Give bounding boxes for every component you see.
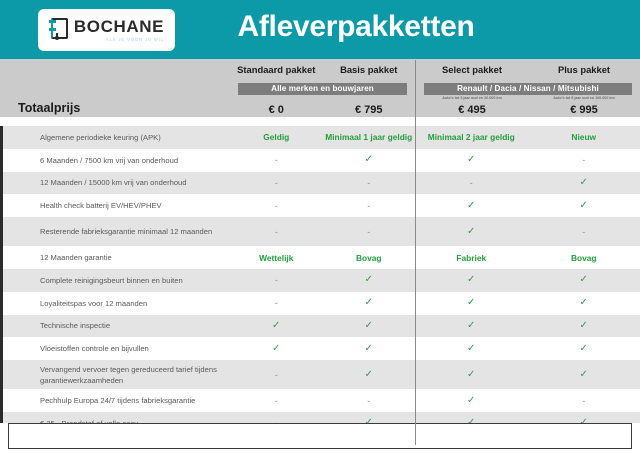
row-label: Technische inspectie <box>0 320 230 331</box>
header-divider <box>0 117 640 126</box>
row-label: Pechhulp Europa 24/7 tijdens fabrieksgar… <box>0 395 230 406</box>
cell-not-included: - <box>230 275 323 285</box>
cell-included-check-icon: ✓ <box>323 298 416 308</box>
cell-included-check-icon: ✓ <box>415 155 528 165</box>
row-accent-bar <box>0 126 3 149</box>
cell-included-check-icon: ✓ <box>415 227 528 237</box>
cell-value: Minimaal 2 jaar geldig <box>415 132 528 142</box>
table-row: 6 Maanden / 7500 km vrij van onderhoud-✓… <box>0 149 640 172</box>
cell-not-included: - <box>230 370 323 380</box>
cell-not-included: - <box>528 227 640 237</box>
column-sub-plus: Auto's tot 5 jaar oud en 100.000 km <box>528 96 640 100</box>
price-plus: € 995 <box>528 104 640 116</box>
cell-value: Fabriek <box>415 253 528 263</box>
cell-included-check-icon: ✓ <box>528 344 640 354</box>
cell-included-check-icon: ✓ <box>323 155 416 165</box>
column-sub-select: Auto's tot 3 jaar oud en 20.000 km <box>416 96 528 100</box>
group-badge-merken: Renault / Dacia / Nissan / Mitsubishi <box>424 83 632 95</box>
cell-not-included: - <box>323 227 416 237</box>
cell-included-check-icon: ✓ <box>415 344 528 354</box>
row-accent-bar <box>0 315 3 338</box>
comparison-table-body: Algemene periodieke keuring (APK)GeldigM… <box>0 126 640 435</box>
cell-not-included: - <box>323 396 416 406</box>
row-label: Loyaliteitspas voor 12 maanden <box>0 298 230 309</box>
cell-included-check-icon: ✓ <box>323 370 416 380</box>
cell-not-included: - <box>230 227 323 237</box>
row-accent-bar <box>0 194 3 217</box>
price-select: € 495 <box>416 104 528 116</box>
package-group-select-plus: Select pakket Plus pakket Renault / Daci… <box>416 59 640 117</box>
column-title-select: Select pakket <box>416 64 528 75</box>
price-standaard: € 0 <box>230 104 323 116</box>
cell-included-check-icon: ✓ <box>415 370 528 380</box>
row-label: 12 Maanden garantie <box>0 252 230 263</box>
row-label: Resterende fabrieksgarantie minimaal 12 … <box>0 226 230 237</box>
table-row: 12 Maanden garantieWettelijkBovagFabriek… <box>0 246 640 269</box>
row-accent-bar <box>0 389 3 412</box>
cell-included-check-icon: ✓ <box>528 370 640 380</box>
cell-included-check-icon: ✓ <box>528 178 640 188</box>
cell-value: Nieuw <box>528 132 640 142</box>
table-row: Technische inspectie✓✓✓✓ <box>0 315 640 338</box>
cell-not-included: - <box>323 178 416 188</box>
cell-not-included: - <box>230 178 323 188</box>
cell-not-included: - <box>323 201 416 211</box>
cell-included-check-icon: ✓ <box>323 275 416 285</box>
cell-included-check-icon: ✓ <box>230 344 323 354</box>
column-title-plus: Plus pakket <box>528 64 640 75</box>
table-row: Vloeistoffen controle en bijvullen✓✓✓✓ <box>0 337 640 360</box>
row-accent-bar <box>0 292 3 315</box>
cell-not-included: - <box>415 178 528 188</box>
cell-included-check-icon: ✓ <box>415 201 528 211</box>
cell-value: Bovag <box>323 253 416 263</box>
table-row: Algemene periodieke keuring (APK)GeldigM… <box>0 126 640 149</box>
cell-value: Minimaal 1 jaar geldig <box>323 132 416 142</box>
group-divider <box>415 60 416 445</box>
row-accent-bar <box>0 217 3 246</box>
row-label: 6 Maanden / 7500 km vrij van onderhoud <box>0 155 230 166</box>
column-title-basis: Basis pakket <box>323 64 416 75</box>
price-basis: € 795 <box>323 104 416 116</box>
page-title: Afleverpakketten <box>0 10 640 44</box>
cell-not-included: - <box>230 396 323 406</box>
table-row: Health check batterij EV/HEV/PHEV--✓✓ <box>0 194 640 217</box>
cell-included-check-icon: ✓ <box>528 201 640 211</box>
cell-included-check-icon: ✓ <box>323 321 416 331</box>
cell-value: Bovag <box>528 253 640 263</box>
cell-not-included: - <box>230 155 323 165</box>
row-accent-bar <box>0 337 3 360</box>
table-row: Loyaliteitspas voor 12 maanden-✓✓✓ <box>0 292 640 315</box>
table-row: 12 Maanden / 15000 km vrij van onderhoud… <box>0 172 640 195</box>
cell-included-check-icon: ✓ <box>323 344 416 354</box>
row-accent-bar <box>0 172 3 195</box>
package-group-standaard-basis: Standaard pakket Basis pakket Alle merke… <box>230 59 415 117</box>
totaalprijs-label: Totaalprijs <box>18 101 80 115</box>
row-label: Vloeistoffen controle en bijvullen <box>0 343 230 354</box>
cell-not-included: - <box>528 396 640 406</box>
row-accent-bar <box>0 269 3 292</box>
cell-included-check-icon: ✓ <box>415 275 528 285</box>
cell-included-check-icon: ✓ <box>528 298 640 308</box>
cell-not-included: - <box>528 155 640 165</box>
row-label: Complete reinigingsbeurt binnen en buite… <box>0 275 230 286</box>
cell-included-check-icon: ✓ <box>415 321 528 331</box>
table-row: Vervangend vervoer tegen gereduceerd tar… <box>0 360 640 389</box>
cell-value: Geldig <box>230 132 323 142</box>
cell-not-included: - <box>230 201 323 211</box>
row-accent-bar <box>0 246 3 269</box>
table-row: Complete reinigingsbeurt binnen en buite… <box>0 269 640 292</box>
table-row: Pechhulp Europa 24/7 tijdens fabrieksgar… <box>0 389 640 412</box>
afleverpakketten-page: BOCHANE ALS JE VOOR JE WIL Afleverpakket… <box>0 0 640 453</box>
row-label: Vervangend vervoer tegen gereduceerd tar… <box>0 364 230 386</box>
table-row: Resterende fabrieksgarantie minimaal 12 … <box>0 217 640 246</box>
row-label: 12 Maanden / 15000 km vrij van onderhoud <box>0 177 230 188</box>
group-badge-alle-merken: Alle merken en bouwjaren <box>238 83 407 95</box>
cell-included-check-icon: ✓ <box>415 298 528 308</box>
row-accent-bar <box>0 149 3 172</box>
row-label: Health check batterij EV/HEV/PHEV <box>0 200 230 211</box>
table-footer-frame <box>8 423 632 449</box>
page-banner: BOCHANE ALS JE VOOR JE WIL Afleverpakket… <box>0 0 640 59</box>
cell-included-check-icon: ✓ <box>230 321 323 331</box>
cell-included-check-icon: ✓ <box>528 275 640 285</box>
cell-included-check-icon: ✓ <box>415 396 528 406</box>
row-label: Algemene periodieke keuring (APK) <box>0 132 230 143</box>
row-accent-bar <box>0 360 3 389</box>
cell-value: Wettelijk <box>230 253 323 263</box>
cell-not-included: - <box>230 298 323 308</box>
column-title-standaard: Standaard pakket <box>230 64 323 75</box>
cell-included-check-icon: ✓ <box>528 321 640 331</box>
